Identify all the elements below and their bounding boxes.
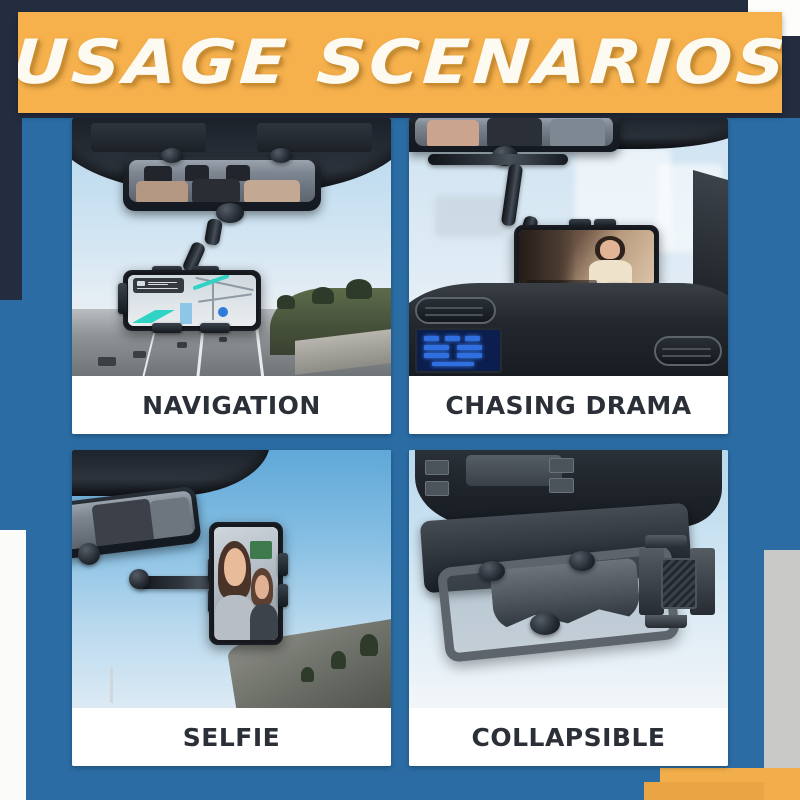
info-key [457,345,482,350]
phone-screen-navigation [128,275,256,326]
phone-screen-video [519,230,653,286]
scenario-photo-collapsible [409,450,728,708]
vent-slat [662,348,710,350]
clamp-tab [645,535,686,548]
console-button[interactable] [425,460,449,475]
phone-screen-selfie [214,527,278,640]
hud-bar [137,288,178,289]
info-key [424,345,449,350]
person-face [224,548,246,586]
arm-pivot-knob [129,569,149,589]
reflected-seat [427,120,478,146]
phone-clamp-side [118,283,127,314]
scenario-caption-selfie: SELFIE [72,708,391,766]
caption-label: COLLAPSIBLE [471,723,665,752]
scenario-caption-chasing-drama: CHASING DRAMA [409,376,728,434]
scenario-card-selfie[interactable]: SELFIE [72,450,391,766]
infotainment-screen[interactable] [415,328,502,373]
mirror-glass [129,160,315,202]
cliff-tree [301,667,314,682]
second-person-shirt [250,604,278,640]
air-vent-left [415,297,496,324]
console-button[interactable] [549,458,573,473]
phone-clamp-bottom [152,323,182,333]
scenario-caption-navigation: NAVIGATION [72,376,391,434]
mount-pivot-knob [530,613,560,635]
sun-visor [257,123,372,151]
reflected-headrest [144,166,172,181]
reflected-seat [487,118,542,146]
scenario-photo-chasing-drama [409,118,728,376]
usage-scenarios-poster: USAGE SCENARIOS [0,0,800,800]
mounted-phone-landscape [123,270,261,331]
rear-view-mirror [409,118,620,152]
mirror-mount-knob [161,148,183,163]
mounted-phone-landscape [514,225,658,291]
info-key [465,336,480,341]
map-water [180,303,192,324]
transmission-tower [110,667,113,703]
roadside-tree [346,279,372,299]
mount-pivot-knob [479,561,505,581]
mount-pivot-knob [569,551,595,571]
reflected-seat [150,497,193,539]
mirror-glass [415,118,613,146]
scenario-photo-navigation [72,118,391,376]
clamp-tab [645,615,686,628]
info-key [457,353,482,358]
mirror-mount-knob [270,148,292,163]
roadside-tree [277,295,295,309]
reflected-seat [244,180,300,203]
reflected-seat [192,179,240,202]
vent-slat [425,307,483,309]
console-button[interactable] [549,478,573,493]
white-corner-bottom-left [0,530,26,800]
console-light-lens [466,455,562,486]
info-key [424,336,439,341]
sun-visor [91,123,206,151]
distant-vehicle [177,342,187,348]
scenario-card-collapsible[interactable]: COLLAPSIBLE [409,450,728,766]
scenario-caption-collapsible: COLLAPSIBLE [409,708,728,766]
video-actor-face [600,240,620,259]
mounted-phone-portrait [209,522,283,645]
reflected-seat [92,499,155,546]
phone-clamp-bottom [200,323,230,333]
rear-view-mirror [123,157,321,211]
info-key [424,353,449,358]
vent-slat [425,314,483,316]
cliff-tree [360,634,378,656]
air-vent-right [654,336,722,366]
title-banner: USAGE SCENARIOS [18,12,782,113]
hud-bar [148,284,167,285]
map-position-marker [218,307,228,317]
mount-arm-horizontal [428,154,568,165]
cliff-tree [331,651,346,669]
reflected-seat [550,119,605,146]
phone-clamp-right [278,553,288,576]
page-title: USAGE SCENARIOS [18,32,782,93]
selfie-background-highlight [250,541,272,559]
roadside-tree [312,287,334,304]
scenario-grid: NAVIGATION [72,118,728,766]
info-key [432,362,473,366]
grey-corner-bottom-right [764,550,800,800]
caption-label: NAVIGATION [142,391,321,420]
caption-label: SELFIE [183,723,280,752]
clamp-grip-pad [661,558,697,608]
distant-vehicle [219,337,227,342]
vent-slat [662,355,710,357]
distant-vehicle [133,351,146,358]
info-key [445,336,460,341]
video-foreground-silhouette [519,230,575,286]
orange-accent-bottom-right-secondary [644,782,764,800]
scenario-photo-selfie [72,450,391,708]
caption-label: CHASING DRAMA [445,391,691,420]
reflected-seat [136,181,188,203]
distant-vehicle [98,357,116,366]
hud-bar [148,282,176,283]
scenario-card-navigation[interactable]: NAVIGATION [72,118,391,434]
map-hud-panel [133,278,184,293]
console-button[interactable] [425,481,449,496]
hud-bar [137,281,145,286]
phone-clamp-right [278,584,288,607]
scenario-card-chasing-drama[interactable]: CHASING DRAMA [409,118,728,434]
blurred-building [435,195,505,236]
map-street [212,279,214,320]
